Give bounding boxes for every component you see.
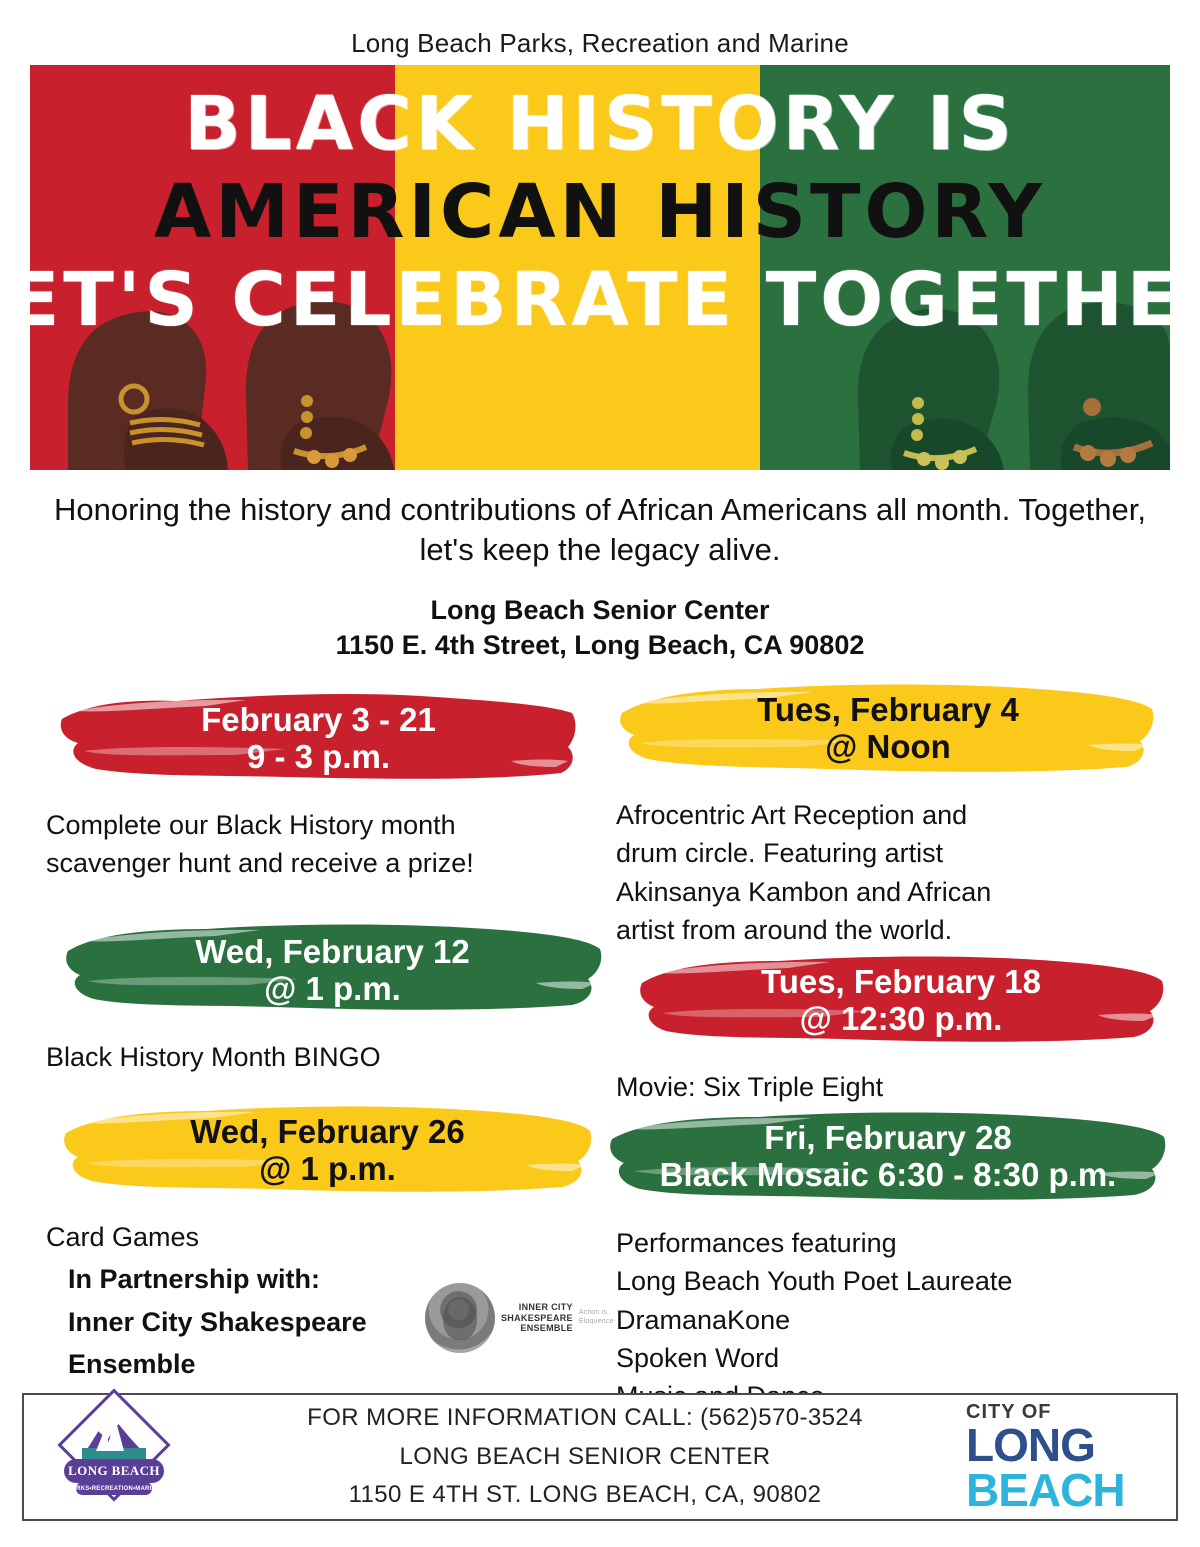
- org-line: Long Beach Parks, Recreation and Marine: [0, 0, 1200, 65]
- event-card-black-mosaic: Fri, February 28 Black Mosaic 6:30 - 8:3…: [608, 1107, 1183, 1416]
- footer-contact-info: FOR MORE INFORMATION CALL: (562)570-3524…: [204, 1399, 966, 1516]
- event-date-label: Tues, February 18 @ 12:30 p.m.: [662, 963, 1140, 1038]
- venue-address: 1150 E. 4th Street, Long Beach, CA 90802: [0, 628, 1200, 663]
- footer-bar: LONG BEACH PARKS•RECREATION•MARINE FOR M…: [22, 1393, 1178, 1521]
- event-card-movie: Tues, February 18 @ 12:30 p.m. Movie: Si…: [608, 951, 1168, 1107]
- event-description: Complete our Black History month scaveng…: [38, 790, 598, 883]
- parks-logo-sub: PARKS•RECREATION•MARINE: [76, 1482, 152, 1495]
- ics-tagline: Action is Eloquence: [579, 1309, 614, 1327]
- hero-banner: BLACK HISTORY IS AMERICAN HISTORY LET'S …: [30, 65, 1170, 470]
- hero-text: BLACK HISTORY IS AMERICAN HISTORY LET'S …: [30, 65, 1170, 470]
- long-beach-parks-diamond-icon: LONG BEACH PARKS•RECREATION•MARINE: [62, 1401, 166, 1513]
- event-description: Performances featuring Long Beach Youth …: [608, 1208, 1183, 1416]
- venue-name: Long Beach Senior Center: [0, 593, 1200, 628]
- event-date-banner: Tues, February 18 @ 12:30 p.m.: [636, 951, 1166, 1052]
- event-date-banner: Fri, February 28 Black Mosaic 6:30 - 8:3…: [608, 1107, 1168, 1208]
- venue-block: Long Beach Senior Center 1150 E. 4th Str…: [0, 571, 1200, 663]
- hero-line-1: BLACK HISTORY IS: [184, 87, 1016, 161]
- event-description: Movie: Six Triple Eight: [608, 1052, 1168, 1106]
- event-description: Card Games: [38, 1202, 598, 1256]
- event-date-banner: February 3 - 21 9 - 3 p.m.: [56, 689, 581, 790]
- event-date-banner: Wed, February 12 @ 1 p.m.: [60, 921, 605, 1022]
- shakespeare-portrait-icon: [425, 1283, 495, 1353]
- event-date-label: Tues, February 4 @ Noon: [644, 691, 1132, 766]
- event-date-label: Wed, February 26 @ 1 p.m.: [86, 1113, 569, 1188]
- parks-logo: LONG BEACH PARKS•RECREATION•MARINE: [24, 1401, 204, 1513]
- intro-paragraph: Honoring the history and contributions o…: [0, 470, 1200, 571]
- event-card-art-reception: Tues, February 4 @ Noon Afrocentric Art …: [608, 679, 1168, 950]
- event-description: Afrocentric Art Reception and drum circl…: [608, 780, 1168, 949]
- city-of-long-beach-logo: CITY OF LONG BEACH: [966, 1401, 1176, 1513]
- event-date-banner: Tues, February 4 @ Noon: [618, 679, 1158, 780]
- city-logo-line-2: LONG: [966, 1423, 1158, 1468]
- parks-logo-name: LONG BEACH: [64, 1459, 164, 1483]
- event-description: Black History Month BINGO: [38, 1022, 598, 1076]
- event-date-label: Fri, February 28 Black Mosaic 6:30 - 8:3…: [634, 1119, 1142, 1194]
- event-date-label: Wed, February 12 @ 1 p.m.: [86, 933, 579, 1008]
- hero-line-3: LET'S CELEBRATE TOGETHER: [30, 263, 1170, 337]
- event-card-scavenger-hunt: February 3 - 21 9 - 3 p.m. Complete our …: [38, 689, 598, 883]
- event-card-bingo: Wed, February 12 @ 1 p.m. Black History …: [38, 921, 598, 1077]
- event-card-card-games: Wed, February 26 @ 1 p.m. Card Games: [38, 1101, 598, 1257]
- hero-line-2: AMERICAN HISTORY: [154, 175, 1046, 249]
- event-date-banner: Wed, February 26 @ 1 p.m.: [60, 1101, 595, 1202]
- ics-wordmark: INNER CITY SHAKESPEARE ENSEMBLE: [501, 1302, 573, 1335]
- event-date-label: February 3 - 21 9 - 3 p.m.: [82, 701, 555, 776]
- city-logo-line-3: BEACH: [966, 1468, 1158, 1513]
- inner-city-shakespeare-logo: INNER CITY SHAKESPEARE ENSEMBLE Action i…: [425, 1282, 600, 1354]
